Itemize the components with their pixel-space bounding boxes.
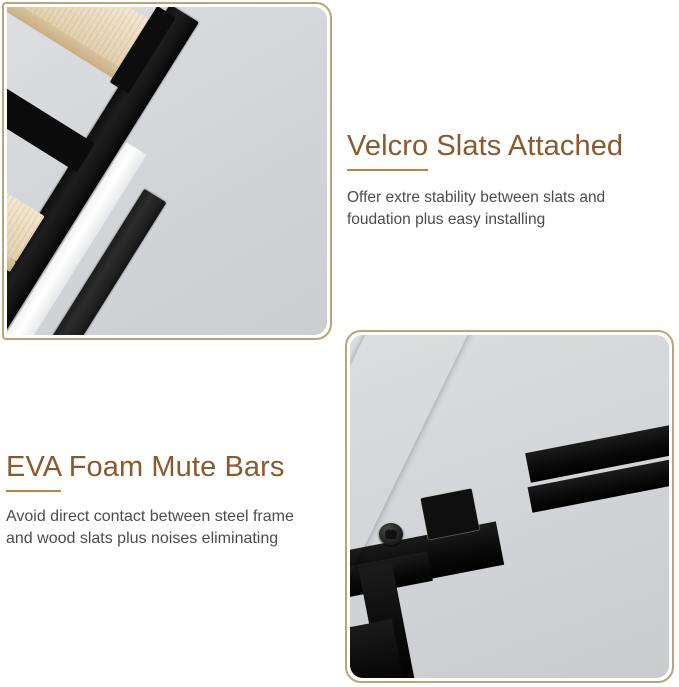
velcro-slats-body: Offer extre stability between slats andf…: [347, 163, 659, 231]
velcro-slats-photo-panel: [2, 2, 332, 340]
velcro-slats-headline: Velcro Slats Attached: [347, 129, 659, 163]
velcro-slats-photo: [7, 7, 327, 335]
velcro-slats-headline-rest: Slats Attached: [428, 130, 623, 162]
product-feature-infographic: { "page": { "background_color": "#ffffff…: [0, 0, 679, 687]
eva-foam-body-line-1: Avoid direct contact between steel frame: [6, 508, 294, 525]
eva-foam-photo: [350, 335, 669, 678]
hex-bolt: [379, 523, 403, 545]
eva-foam-body: Avoid direct contact between steel frame…: [6, 484, 331, 550]
eva-foam-headline: EVA Foam Mute Bars: [6, 450, 331, 484]
eva-foam-photo-panel: [345, 330, 674, 683]
eva-foam-headline-rest: Foam Mute Bars: [61, 451, 285, 483]
eva-foam-text-block: EVA Foam Mute Bars Avoid direct contact …: [6, 450, 331, 550]
velcro-slats-body-line-2: foudation plus easy installing: [347, 211, 545, 228]
velcro-slats-body-line-1: Offer extre stability between slats and: [347, 189, 605, 206]
eva-foam-headline-underlined: EVA: [6, 451, 61, 492]
velcro-slats-text-block: Velcro Slats Attached Offer extre stabil…: [347, 129, 659, 231]
eva-foam-body-line-2: and wood slats plus noises eliminating: [6, 530, 278, 547]
velcro-slats-headline-underlined: Velcro: [347, 130, 428, 171]
